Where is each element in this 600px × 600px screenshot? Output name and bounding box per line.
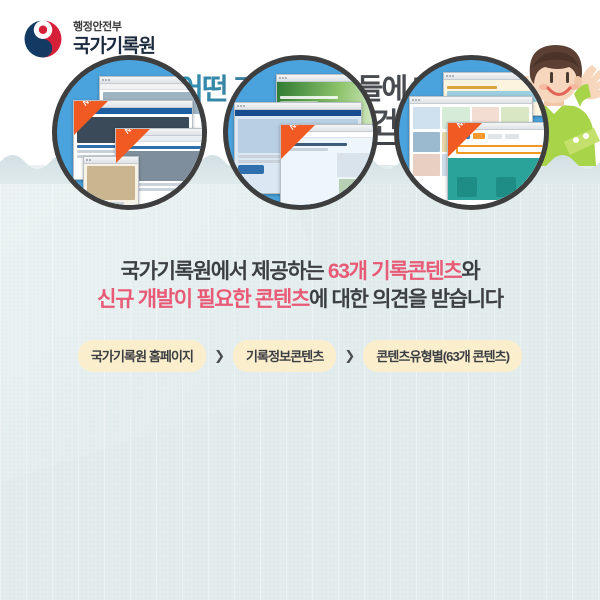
new-ribbon — [281, 125, 315, 159]
circle-1-inner: NEW NEW — [57, 60, 202, 205]
content-gallery: NEW NEW — [0, 55, 600, 230]
breadcrumb-item-archive-contents[interactable]: 기록정보콘텐츠 — [233, 340, 336, 372]
new-ribbon — [448, 123, 482, 157]
chevron-right-icon: ❯ — [213, 348, 226, 364]
description-suffix: 에 대한 의견을 받습니다 — [309, 288, 503, 311]
ministry-name: 행정안전부 — [73, 22, 155, 33]
logo-text: 행정안전부 국가기록원 — [73, 22, 155, 56]
description-line-1: 국가기록원에서 제공하는 63개 기록콘텐츠와 — [0, 258, 600, 286]
description-text: 국가기록원에서 제공하는 63개 기록콘텐츠와 신규 개발이 필요한 콘텐츠에 … — [0, 258, 600, 314]
website-thumbnail: NEW — [447, 122, 544, 205]
infographic-poster: 행정안전부 국가기록원 먼저! 어떤 기록콘텐츠들에 대한 의견을 받는건가요? — [0, 0, 600, 600]
content-circle-1[interactable]: NEW NEW — [52, 55, 207, 210]
new-ribbon — [74, 101, 108, 135]
description-prefix: 국가기록원에서 제공하는 — [121, 260, 328, 283]
description-line-2: 신규 개발이 필요한 콘텐츠에 대한 의견을 받습니다 — [0, 286, 600, 314]
content-circle-3[interactable]: NEW — [394, 55, 549, 210]
breadcrumb-item-homepage[interactable]: 국가기록원 홈페이지 — [78, 340, 206, 372]
chevron-right-icon: ❯ — [343, 348, 356, 364]
website-thumbnail — [83, 156, 139, 205]
circle-3-inner: NEW — [399, 60, 544, 205]
description-conjunction: 와 — [461, 260, 479, 283]
content-circle-2[interactable]: NEW — [223, 55, 378, 210]
taeguk-mark-icon — [22, 18, 64, 60]
new-ribbon — [116, 129, 150, 163]
description-highlight-count: 63개 기록콘텐츠 — [328, 260, 461, 283]
description-highlight-new: 신규 개발이 필요한 콘텐츠 — [97, 288, 309, 311]
agency-logo: 행정안전부 국가기록원 — [22, 18, 155, 60]
breadcrumb-item-content-types[interactable]: 콘텐츠유형별(63개 콘텐츠) — [363, 340, 522, 372]
breadcrumb: 국가기록원 홈페이지 ❯ 기록정보콘텐츠 ❯ 콘텐츠유형별(63개 콘텐츠) — [0, 340, 600, 372]
circle-2-inner: NEW — [228, 60, 373, 205]
agency-name: 국가기록원 — [73, 37, 155, 56]
website-thumbnail: NEW — [280, 124, 373, 205]
